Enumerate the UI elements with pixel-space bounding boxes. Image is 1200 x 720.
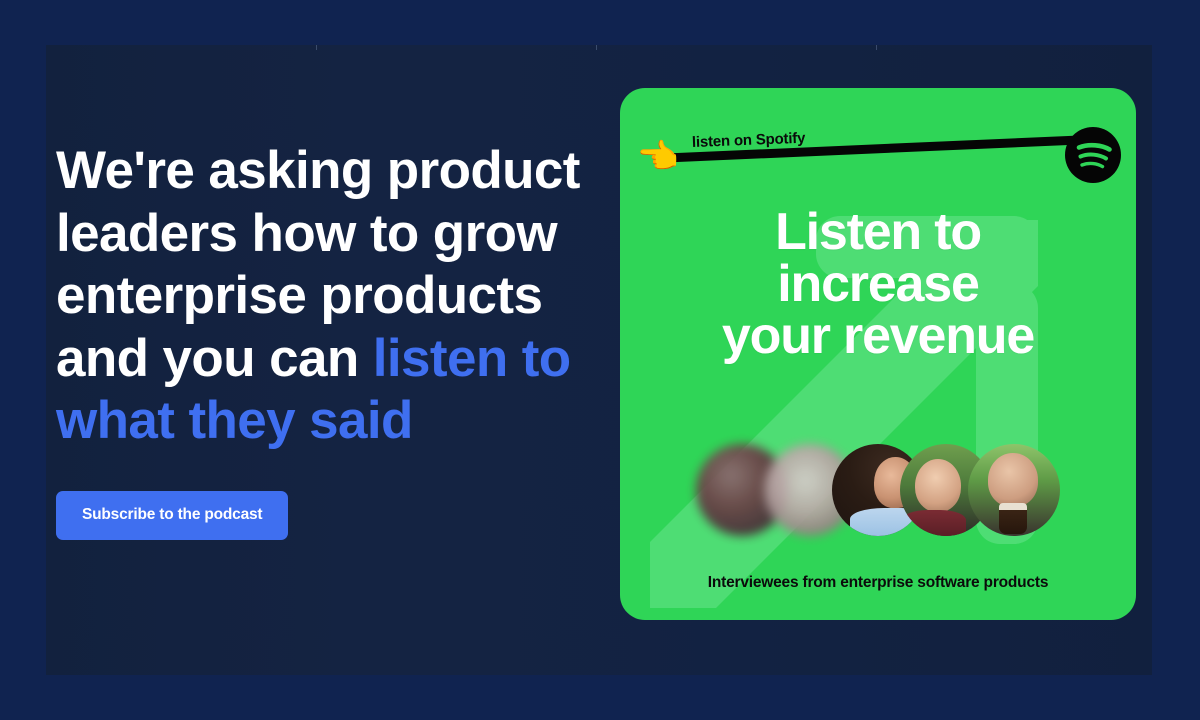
page-title: We're asking product leaders how to grow…	[56, 140, 586, 453]
interviewee-avatar-row	[620, 440, 1136, 540]
listen-on-spotify-strip[interactable]: 👉 listen on Spotify	[620, 114, 1136, 198]
hero-left-column: We're asking product leaders how to grow…	[56, 140, 586, 540]
card-title-line-1: Listen to	[636, 206, 1120, 258]
hero-page: We're asking product leaders how to grow…	[0, 0, 1200, 720]
headline-line-2: leaders how to grow	[56, 204, 557, 263]
spotify-logo-icon[interactable]	[1064, 126, 1122, 184]
subscribe-to-podcast-button[interactable]: Subscribe to the podcast	[56, 491, 288, 540]
strip-connector-line	[620, 114, 1136, 198]
card-title-line-3: your revenue	[636, 310, 1120, 362]
headline-line-4: and you can	[56, 329, 373, 388]
card-caption: Interviewees from enterprise software pr…	[620, 574, 1136, 592]
avatar-photo-3	[968, 444, 1060, 536]
pointing-hand-icon: 👉	[638, 140, 680, 174]
headline-accent-2: what they said	[56, 391, 413, 450]
headline-line-3: enterprise products	[56, 266, 542, 325]
headline-accent-1: listen to	[373, 329, 571, 388]
spotify-promo-card[interactable]: 👉 listen on Spotify Listen to increase y…	[620, 88, 1136, 620]
headline-line-1: We're asking product	[56, 141, 580, 200]
card-title: Listen to increase your revenue	[620, 206, 1136, 362]
guide-line-2	[596, 45, 597, 675]
card-title-line-2: increase	[636, 258, 1120, 310]
